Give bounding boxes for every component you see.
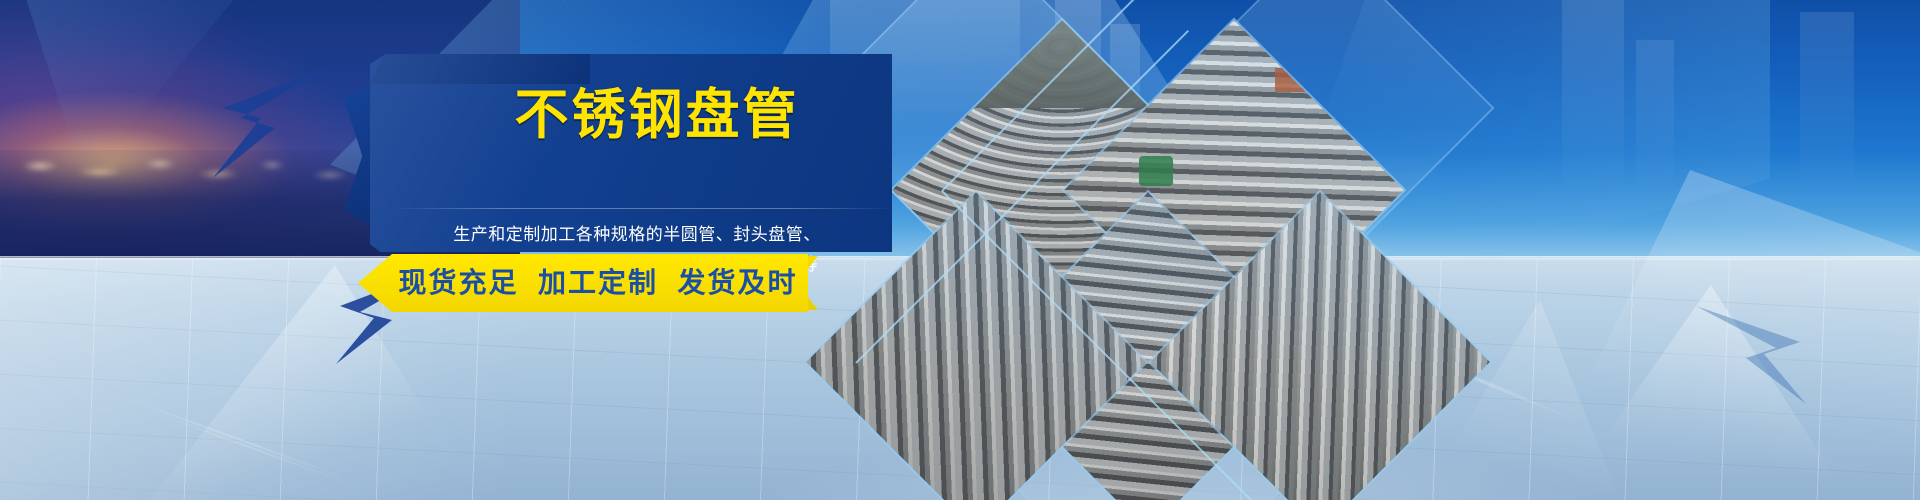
product-photo-collage (820, 0, 1440, 500)
banner-title: 不锈钢盘管 (442, 88, 872, 142)
banner-root: 不锈钢盘管 生产和定制加工各种规格的半圆管、封头盘管、 盘管、角钢、扁钢、弯头、… (0, 0, 1920, 500)
ribbon-divider-line (392, 208, 892, 209)
title-ribbon-panel: 不锈钢盘管 生产和定制加工各种规格的半圆管、封头盘管、 盘管、角钢、扁钢、弯头、… (352, 54, 892, 254)
slogan-ribbon: 现货充足 加工定制 发货及时 (358, 254, 808, 312)
banner-subtitle-line1: 生产和定制加工各种规格的半圆管、封头盘管、 (392, 220, 882, 245)
building-silhouette (1800, 12, 1854, 182)
chevron-arrow-icon (1690, 300, 1810, 410)
chevron-arrow-icon (205, 62, 335, 182)
slogan-text: 现货充足 加工定制 发货及时 (398, 266, 798, 300)
